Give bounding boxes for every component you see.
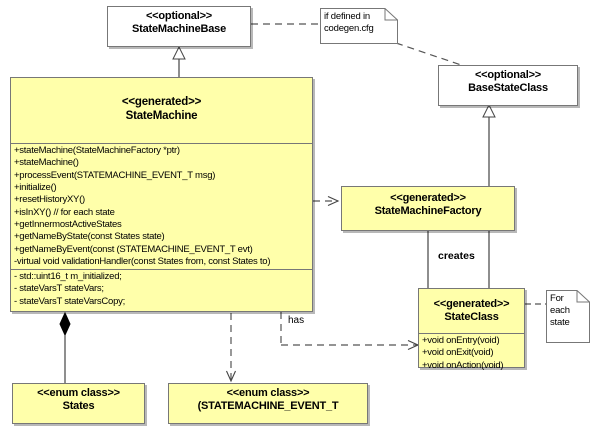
operation-item: +stateMachine()	[14, 157, 309, 169]
operation-item: +initialize()	[14, 182, 309, 194]
note-line-2: codegen.cfg	[324, 23, 393, 35]
class-name: BaseStateClass	[443, 82, 573, 95]
operation-item: +isInXY() // for each state	[14, 207, 309, 219]
class-node-state-machine[interactable]: <<generated>> StateMachine +stateMachine…	[10, 77, 313, 312]
operation-item: +getNameByState(const States state)	[14, 231, 309, 243]
class-name: StateMachineFactory	[346, 205, 510, 218]
enum-title: <<enum class>> States	[13, 384, 144, 417]
class-operations: +stateMachine(StateMachineFactory *ptr) …	[11, 143, 312, 269]
operation-item: +getNameByEvent(const (STATEMACHINE_EVEN…	[14, 244, 309, 256]
note-for-each-state: For each state	[546, 291, 588, 342]
class-stereotype: <<optional>>	[112, 10, 246, 23]
class-operations: +void onEntry(void) +void onExit(void) +…	[419, 333, 524, 374]
class-title: <<optional>> BaseStateClass	[439, 66, 577, 99]
class-title: <<generated>> StateMachine	[11, 78, 312, 143]
class-name: StateMachineBase	[112, 23, 246, 36]
edge-statemachine-composes-states	[60, 313, 70, 383]
class-stereotype: <<generated>>	[15, 96, 308, 110]
class-stereotype: <<generated>>	[346, 192, 510, 205]
operation-item: +void onAction(void)	[422, 360, 521, 372]
enum-stereotype: <<enum class>>	[173, 387, 363, 400]
operation-item: +void onEntry(void)	[422, 335, 521, 347]
edge-label-has: has	[286, 315, 306, 326]
attribute-item: - std::uint16_t m_initialized;	[14, 271, 309, 283]
operation-item: +getInnermostActiveStates	[14, 219, 309, 231]
attribute-item: - stateVarsT stateVars;	[14, 283, 309, 295]
class-stereotype: <<generated>>	[423, 298, 520, 311]
operation-item: +void onExit(void)	[422, 347, 521, 359]
class-node-state-machine-factory[interactable]: <<generated>> StateMachineFactory	[341, 186, 515, 231]
note-line-1: For	[550, 293, 585, 305]
class-title: <<generated>> StateMachineFactory	[342, 187, 514, 222]
operation-item: +stateMachine(StateMachineFactory *ptr)	[14, 145, 309, 157]
class-name: StateMachine	[15, 110, 308, 124]
enum-node-states[interactable]: <<enum class>> States	[12, 383, 145, 424]
class-node-state-machine-base[interactable]: <<optional>> StateMachineBase	[107, 6, 251, 47]
enum-name: States	[17, 400, 140, 413]
enum-name: (STATEMACHINE_EVENT_T	[173, 400, 363, 413]
enum-stereotype: <<enum class>>	[17, 387, 140, 400]
note-line-2: each	[550, 305, 585, 317]
class-title: <<generated>> StateClass	[419, 289, 524, 333]
note-line-3: state	[550, 317, 585, 329]
operation-item: +resetHistoryXY()	[14, 194, 309, 206]
enum-title: <<enum class>> (STATEMACHINE_EVENT_T	[169, 384, 367, 417]
enum-node-statemachine-event-t[interactable]: <<enum class>> (STATEMACHINE_EVENT_T	[168, 383, 368, 424]
class-title: <<optional>> StateMachineBase	[108, 7, 250, 40]
uml-class-diagram: <<optional>> StateMachineBase if defined…	[0, 0, 600, 433]
class-node-state-class[interactable]: <<generated>> StateClass +void onEntry(v…	[418, 288, 525, 368]
class-attributes: - std::uint16_t m_initialized; - stateVa…	[11, 269, 312, 310]
attribute-item: - stateVarsT stateVarsCopy;	[14, 296, 309, 308]
class-node-base-state-class[interactable]: <<optional>> BaseStateClass	[438, 65, 578, 106]
class-name: StateClass	[423, 311, 520, 324]
class-stereotype: <<optional>>	[443, 69, 573, 82]
note-codegen-cfg: if defined in codegen.cfg	[320, 9, 396, 43]
edge-statemachine-inherits-statemachinebase	[173, 47, 185, 77]
operation-item: +processEvent(STATEMACHINE_EVENT_T msg)	[14, 170, 309, 182]
edge-label-creates: creates	[436, 250, 477, 262]
operation-item: -virtual void validationHandler(const St…	[14, 256, 309, 268]
note-line-1: if defined in	[324, 11, 393, 23]
